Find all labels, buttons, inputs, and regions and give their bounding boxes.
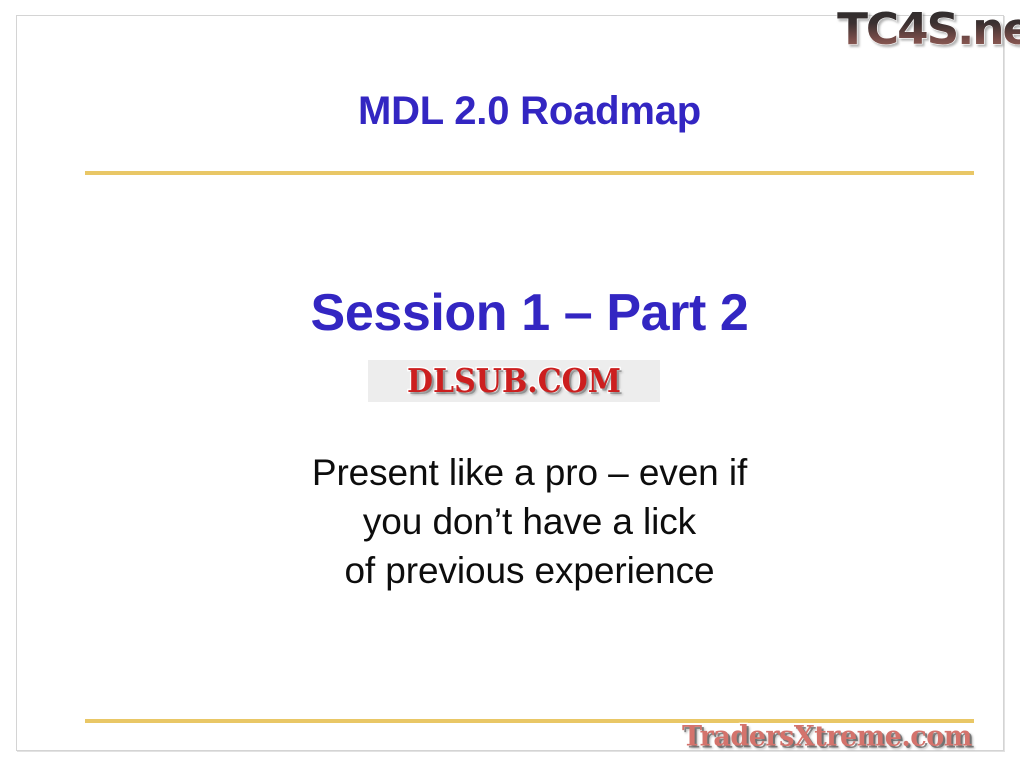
slide-body-text: Present like a pro – even if you don’t h… <box>85 448 974 595</box>
watermark-tradersxtreme-text: TradersXtreme.com <box>682 720 972 753</box>
body-line-2: you don’t have a lick <box>85 497 974 546</box>
body-line-3: of previous experience <box>85 546 974 595</box>
body-line-1: Present like a pro – even if <box>85 448 974 497</box>
watermark-dlsub-text: DLSUB.COM <box>407 362 621 400</box>
session-heading: Session 1 – Part 2 <box>85 284 974 342</box>
slide-title: MDL 2.0 Roadmap <box>85 88 974 134</box>
presentation-slide: MDL 2.0 Roadmap Session 1 – Part 2 Prese… <box>0 0 1024 768</box>
watermark-tc4s: TC4S.net <box>834 2 1020 54</box>
watermark-tc4s-graphic: TC4S.net <box>834 2 1020 54</box>
divider-line-top <box>85 171 974 175</box>
watermark-tradersxtreme: TradersXtreme.com <box>682 714 1024 758</box>
watermark-dlsub: DLSUB.COM <box>368 360 660 402</box>
svg-text:TC4S.net: TC4S.net <box>837 4 1020 54</box>
